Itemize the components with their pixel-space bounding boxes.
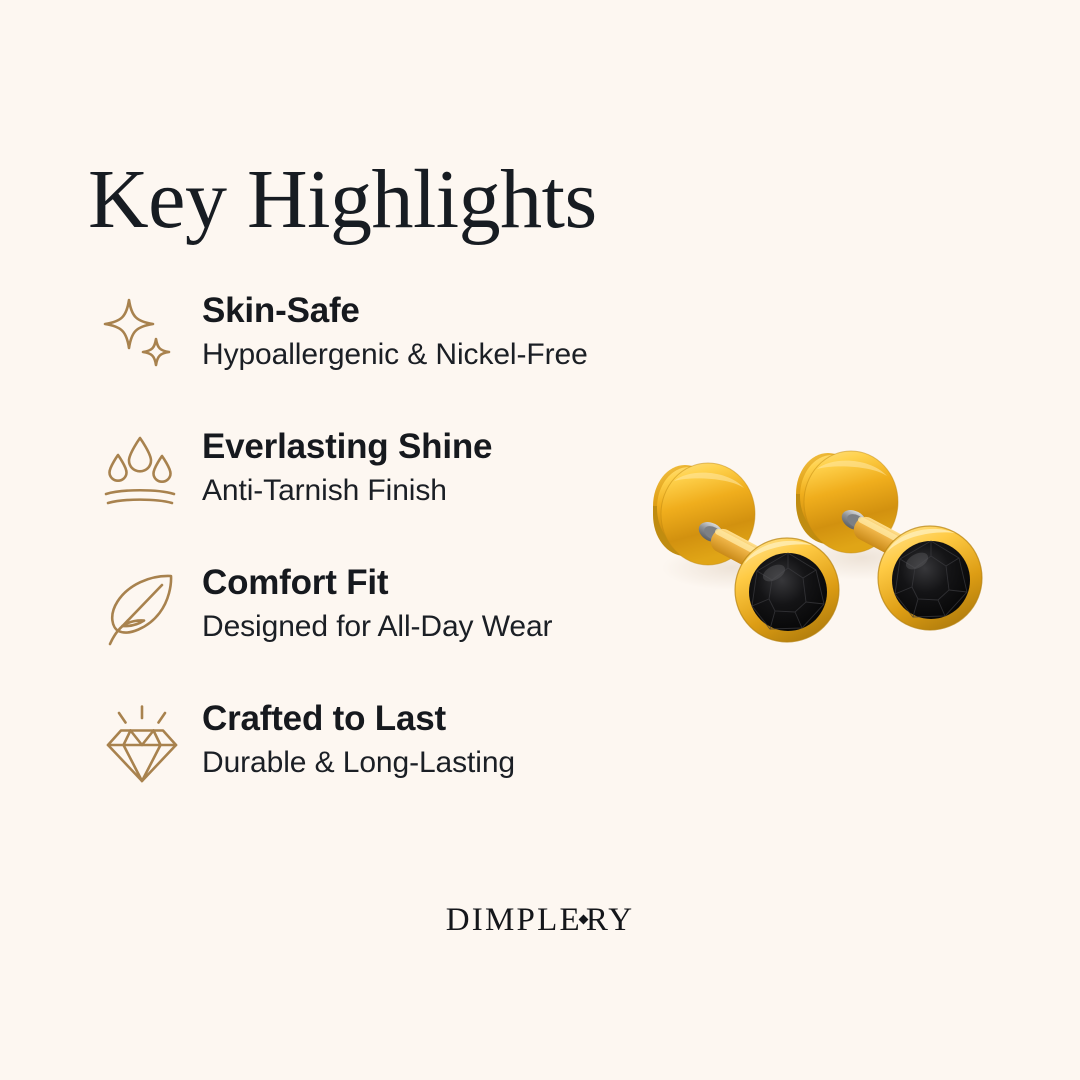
brand-logo: DIMPLERY — [0, 902, 1080, 939]
page-title: Key Highlights — [88, 158, 597, 242]
feature-title: Comfort Fit — [202, 560, 552, 606]
list-item: Skin-Safe Hypoallergenic & Nickel-Free — [94, 288, 714, 424]
sparkle-icon — [100, 294, 184, 378]
feature-title: Everlasting Shine — [202, 424, 492, 470]
brand-name-part1: DIMPLE — [446, 902, 582, 938]
feature-title: Skin-Safe — [202, 288, 588, 334]
feature-subtitle: Designed for All-Day Wear — [202, 606, 552, 648]
list-item: Crafted to Last Durable & Long-Lasting — [94, 696, 714, 832]
feature-text: Everlasting Shine Anti-Tarnish Finish — [202, 424, 492, 512]
diamond-icon — [100, 702, 184, 786]
feature-subtitle: Anti-Tarnish Finish — [202, 470, 492, 512]
feature-subtitle: Hypoallergenic & Nickel-Free — [202, 334, 588, 376]
feature-text: Crafted to Last Durable & Long-Lasting — [202, 696, 515, 784]
water-droplets-icon — [100, 430, 184, 514]
feature-text: Skin-Safe Hypoallergenic & Nickel-Free — [202, 288, 588, 376]
feature-title: Crafted to Last — [202, 696, 515, 742]
feature-subtitle: Durable & Long-Lasting — [202, 742, 515, 784]
product-image-earrings — [612, 418, 1012, 668]
brand-name-part2: RY — [586, 902, 634, 938]
feather-icon — [100, 566, 184, 650]
promo-canvas: Key Highlights Skin-Safe Hypoallergenic … — [0, 0, 1080, 1080]
feature-text: Comfort Fit Designed for All-Day Wear — [202, 560, 552, 648]
